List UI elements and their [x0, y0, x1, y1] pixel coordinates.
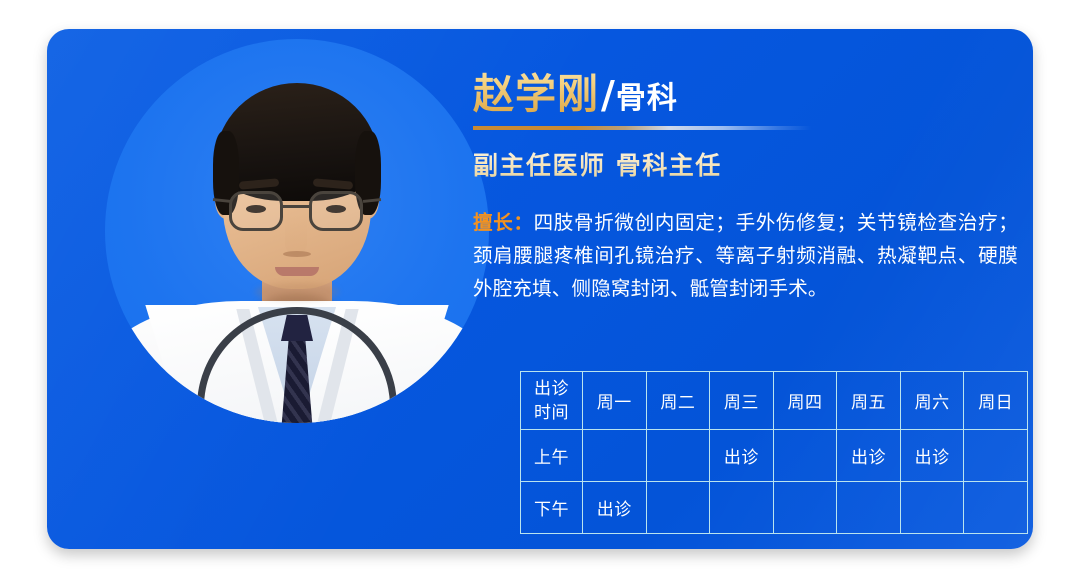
- doctor-profile-card: 赵学刚 / 骨科 副主任医师 骨科主任 擅长：四肢骨折微创内固定；手外伤修复；关…: [47, 29, 1033, 549]
- schedule-cell-morning-friday: 出诊: [837, 430, 901, 482]
- schedule-corner-line1: 出诊: [521, 377, 582, 401]
- doctor-figure: [105, 39, 489, 539]
- specialty-text: 四肢骨折微创内固定；手外伤修复；关节镜检查治疗；颈肩腰腿疼椎间孔镜治疗、等离子射…: [473, 211, 1018, 300]
- pen-icon: [334, 453, 347, 497]
- coat-pocket-line: [327, 449, 391, 451]
- schedule-cell-afternoon-monday: 出诊: [583, 482, 647, 534]
- schedule-corner-line2: 时间: [521, 401, 582, 425]
- schedule-period-morning: 上午: [521, 430, 583, 482]
- eyeglass-lens-left: [229, 191, 283, 231]
- specialty-paragraph: 擅长：四肢骨折微创内固定；手外伤修复；关节镜检查治疗；颈肩腰腿疼椎间孔镜治疗、等…: [473, 206, 1018, 305]
- schedule-cell-morning-sunday: [964, 430, 1028, 482]
- doctor-name: 赵学刚: [473, 60, 599, 120]
- doctor-info-column: 赵学刚 / 骨科 副主任医师 骨科主任 擅长：四肢骨折微创内固定；手外伤修复；关…: [473, 60, 1018, 305]
- schedule-day-header-thursday: 周四: [773, 372, 837, 430]
- schedule-row-afternoon: 下午 出诊: [521, 482, 1028, 534]
- schedule-day-header-wednesday: 周三: [710, 372, 774, 430]
- eyeglass-bridge: [283, 205, 309, 208]
- eyeglass-temple-left: [213, 198, 231, 203]
- eyeglass-lens-right: [309, 191, 363, 231]
- schedule-cell-afternoon-tuesday: [646, 482, 710, 534]
- schedule-corner-cell: 出诊 时间: [521, 372, 583, 430]
- stethoscope-chestpiece: [357, 457, 399, 499]
- schedule-day-header-tuesday: 周二: [646, 372, 710, 430]
- doctor-photo: [105, 39, 489, 539]
- schedule-cell-morning-thursday: [773, 430, 837, 482]
- schedule-cell-afternoon-thursday: [773, 482, 837, 534]
- nostrils: [283, 251, 311, 257]
- specialty-colon: ：: [513, 211, 533, 234]
- name-department-separator: /: [601, 73, 615, 117]
- schedule-cell-afternoon-wednesday: [710, 482, 774, 534]
- stethoscope-earpiece-right: [217, 445, 235, 463]
- stethoscope-chestpiece-center: [367, 465, 382, 480]
- schedule-table: 出诊 时间 周一 周二 周三 周四 周五 周六 周日 上午 出: [520, 371, 1028, 534]
- schedule-day-header-sunday: 周日: [964, 372, 1028, 430]
- schedule-cell-afternoon-friday: [837, 482, 901, 534]
- nose-shape: [285, 215, 307, 255]
- doctor-name-row: 赵学刚 / 骨科: [473, 60, 1018, 122]
- stethoscope-arm-right: [380, 423, 406, 535]
- schedule-period-afternoon: 下午: [521, 482, 583, 534]
- portrait-area: [59, 35, 451, 535]
- stethoscope-arm-left: [191, 423, 210, 535]
- schedule-cell-afternoon-saturday: [900, 482, 964, 534]
- page-root: 赵学刚 / 骨科 副主任医师 骨科主任 擅长：四肢骨折微创内固定；手外伤修复；关…: [0, 0, 1080, 588]
- doctor-title: 副主任医师 骨科主任: [473, 146, 1018, 182]
- eyeglass-temple-right: [363, 198, 381, 203]
- schedule-cell-afternoon-sunday: [964, 482, 1028, 534]
- schedule-day-header-saturday: 周六: [900, 372, 964, 430]
- schedule-header-row: 出诊 时间 周一 周二 周三 周四 周五 周六 周日: [521, 372, 1028, 430]
- schedule-cell-morning-wednesday: 出诊: [710, 430, 774, 482]
- schedule-row-morning: 上午 出诊 出诊 出诊: [521, 430, 1028, 482]
- title-divider: [473, 126, 811, 130]
- schedule-cell-morning-tuesday: [646, 430, 710, 482]
- specialty-label: 擅长: [473, 211, 513, 234]
- chin-shadow: [255, 283, 339, 301]
- department-name: 骨科: [616, 73, 678, 117]
- schedule-cell-morning-saturday: 出诊: [900, 430, 964, 482]
- schedule-cell-morning-monday: [583, 430, 647, 482]
- schedule-day-header-monday: 周一: [583, 372, 647, 430]
- stethoscope-earpiece-left: [191, 437, 209, 455]
- schedule-day-header-friday: 周五: [837, 372, 901, 430]
- mouth-shape: [275, 267, 319, 276]
